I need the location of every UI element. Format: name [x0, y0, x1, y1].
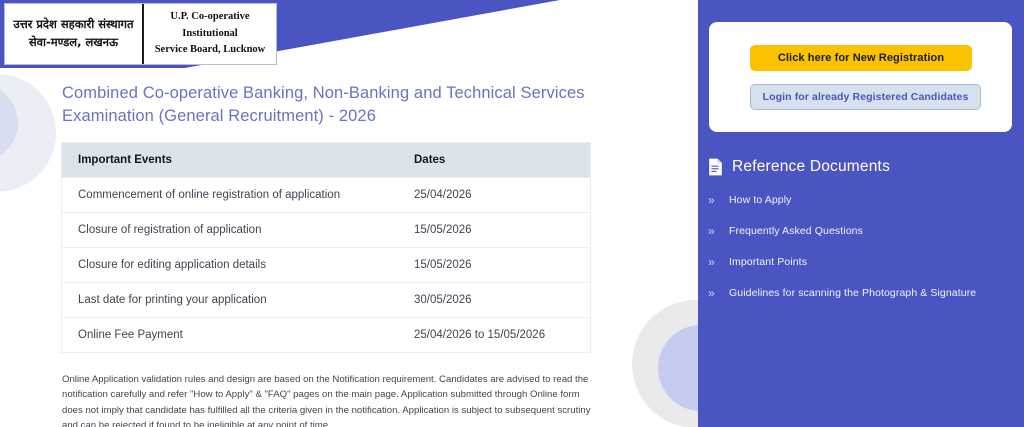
reference-link-label: How to Apply — [729, 194, 791, 206]
right-side-panel: Click here for New Registration Login fo… — [698, 0, 1024, 427]
table-row: Closure for editing application details … — [62, 247, 590, 282]
table-row: Closure of registration of application 1… — [62, 212, 590, 247]
chevron-right-icon: » — [708, 225, 719, 237]
reference-documents-header: Reference Documents — [708, 158, 1018, 176]
reference-link-label: Important Points — [729, 256, 807, 268]
organisation-logo: उत्तर प्रदेश सहकारी संस्थागत सेवा-मण्डल,… — [4, 3, 277, 65]
reference-link-label: Frequently Asked Questions — [729, 225, 863, 237]
table-row: Last date for printing your application … — [62, 282, 590, 317]
application-note: Online Application validation rules and … — [62, 372, 594, 427]
logo-english-line1: U.P. Co-operative Institutional — [148, 9, 272, 43]
chevron-right-icon: » — [708, 287, 719, 299]
important-events-table: Important Events Dates Commencement of o… — [62, 143, 590, 352]
logo-hindi-text: उत्तर प्रदेश सहकारी संस्थागत सेवा-मण्डल,… — [5, 4, 144, 64]
reference-link-label: Guidelines for scanning the Photograph &… — [729, 287, 976, 299]
table-header-row: Important Events Dates — [62, 143, 590, 178]
reference-link-how-to-apply[interactable]: » How to Apply — [708, 194, 1018, 206]
logo-english-line2: Service Board, Lucknow — [155, 42, 266, 59]
reference-documents-section: Reference Documents » How to Apply » Fre… — [708, 158, 1018, 318]
registration-action-card: Click here for New Registration Login fo… — [709, 22, 1012, 132]
logo-english-text: U.P. Co-operative Institutional Service … — [144, 4, 276, 64]
chevron-right-icon: » — [708, 194, 719, 206]
page-root: उत्तर प्रदेश सहकारी संस्थागत सेवा-मण्डल,… — [0, 0, 1024, 427]
login-registered-candidates-button[interactable]: Login for already Registered Candidates — [750, 84, 981, 110]
table-row: Online Fee Payment 25/04/2026 to 15/05/2… — [62, 317, 590, 352]
new-registration-button[interactable]: Click here for New Registration — [750, 45, 972, 71]
reference-documents-title: Reference Documents — [732, 158, 890, 176]
table-cell-date: 25/04/2026 to 15/05/2026 — [398, 317, 590, 352]
table-cell-date: 30/05/2026 — [398, 282, 590, 317]
reference-link-faq[interactable]: » Frequently Asked Questions — [708, 225, 1018, 237]
content-column: Combined Co-operative Banking, Non-Banki… — [62, 82, 590, 427]
logo-hindi-line1: उत्तर प्रदेश सहकारी संस्थागत — [13, 16, 133, 34]
reference-link-photo-signature-guidelines[interactable]: » Guidelines for scanning the Photograph… — [708, 287, 1018, 299]
table-cell-event: Commencement of online registration of a… — [62, 177, 398, 212]
page-title: Combined Co-operative Banking, Non-Banki… — [62, 82, 590, 128]
chevron-right-icon: » — [708, 256, 719, 268]
scrollbar-track[interactable] — [598, 66, 609, 427]
table-cell-event: Closure of registration of application — [62, 212, 398, 247]
table-cell-event: Last date for printing your application — [62, 282, 398, 317]
table-cell-date: 15/05/2026 — [398, 212, 590, 247]
document-icon — [708, 158, 723, 176]
table-header-dates: Dates — [398, 143, 590, 178]
table-header-events: Important Events — [62, 143, 398, 178]
table-cell-event: Online Fee Payment — [62, 317, 398, 352]
logo-hindi-line2: सेवा-मण्डल, लखनऊ — [29, 34, 118, 52]
table-body: Commencement of online registration of a… — [62, 177, 590, 352]
table-cell-event: Closure for editing application details — [62, 247, 398, 282]
table-row: Commencement of online registration of a… — [62, 177, 590, 212]
main-content-pane: Combined Co-operative Banking, Non-Banki… — [0, 68, 698, 427]
reference-link-important-points[interactable]: » Important Points — [708, 256, 1018, 268]
table-cell-date: 25/04/2026 — [398, 177, 590, 212]
table-cell-date: 15/05/2026 — [398, 247, 590, 282]
